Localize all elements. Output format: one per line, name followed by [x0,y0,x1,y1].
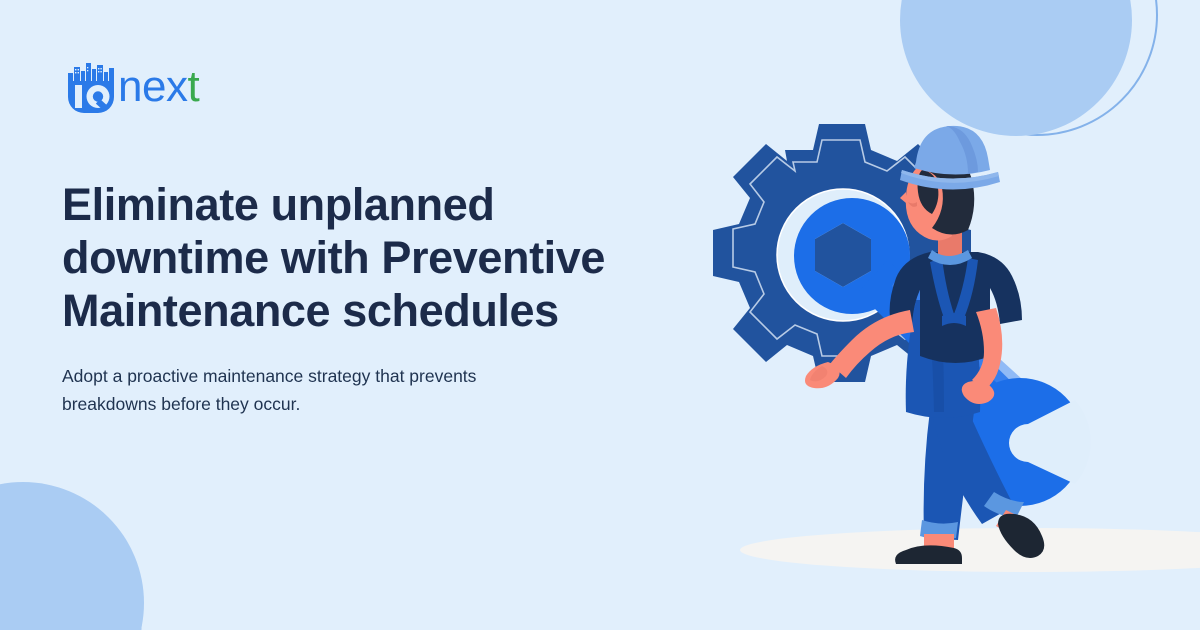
decorative-circle-bottom-left-ring [0,490,142,630]
ground-shadow-ellipse [740,528,1200,572]
decorative-circle-bottom-left [0,482,144,630]
brand-wordmark: next [118,65,199,109]
maintenance-worker-illustration [630,110,1200,590]
marketing-banner: next Eliminate unplanned downtime with P… [0,0,1200,630]
page-title: Eliminate unplanned downtime with Preven… [62,178,672,337]
iqnext-logo-mark [62,61,118,113]
brand-wordmark-x: t [187,62,199,111]
hero-illustration [630,110,1200,590]
page-subtitle: Adopt a proactive maintenance strategy t… [62,362,532,419]
brand-logo[interactable]: next [62,58,199,116]
brand-wordmark-next: nex [118,62,187,111]
